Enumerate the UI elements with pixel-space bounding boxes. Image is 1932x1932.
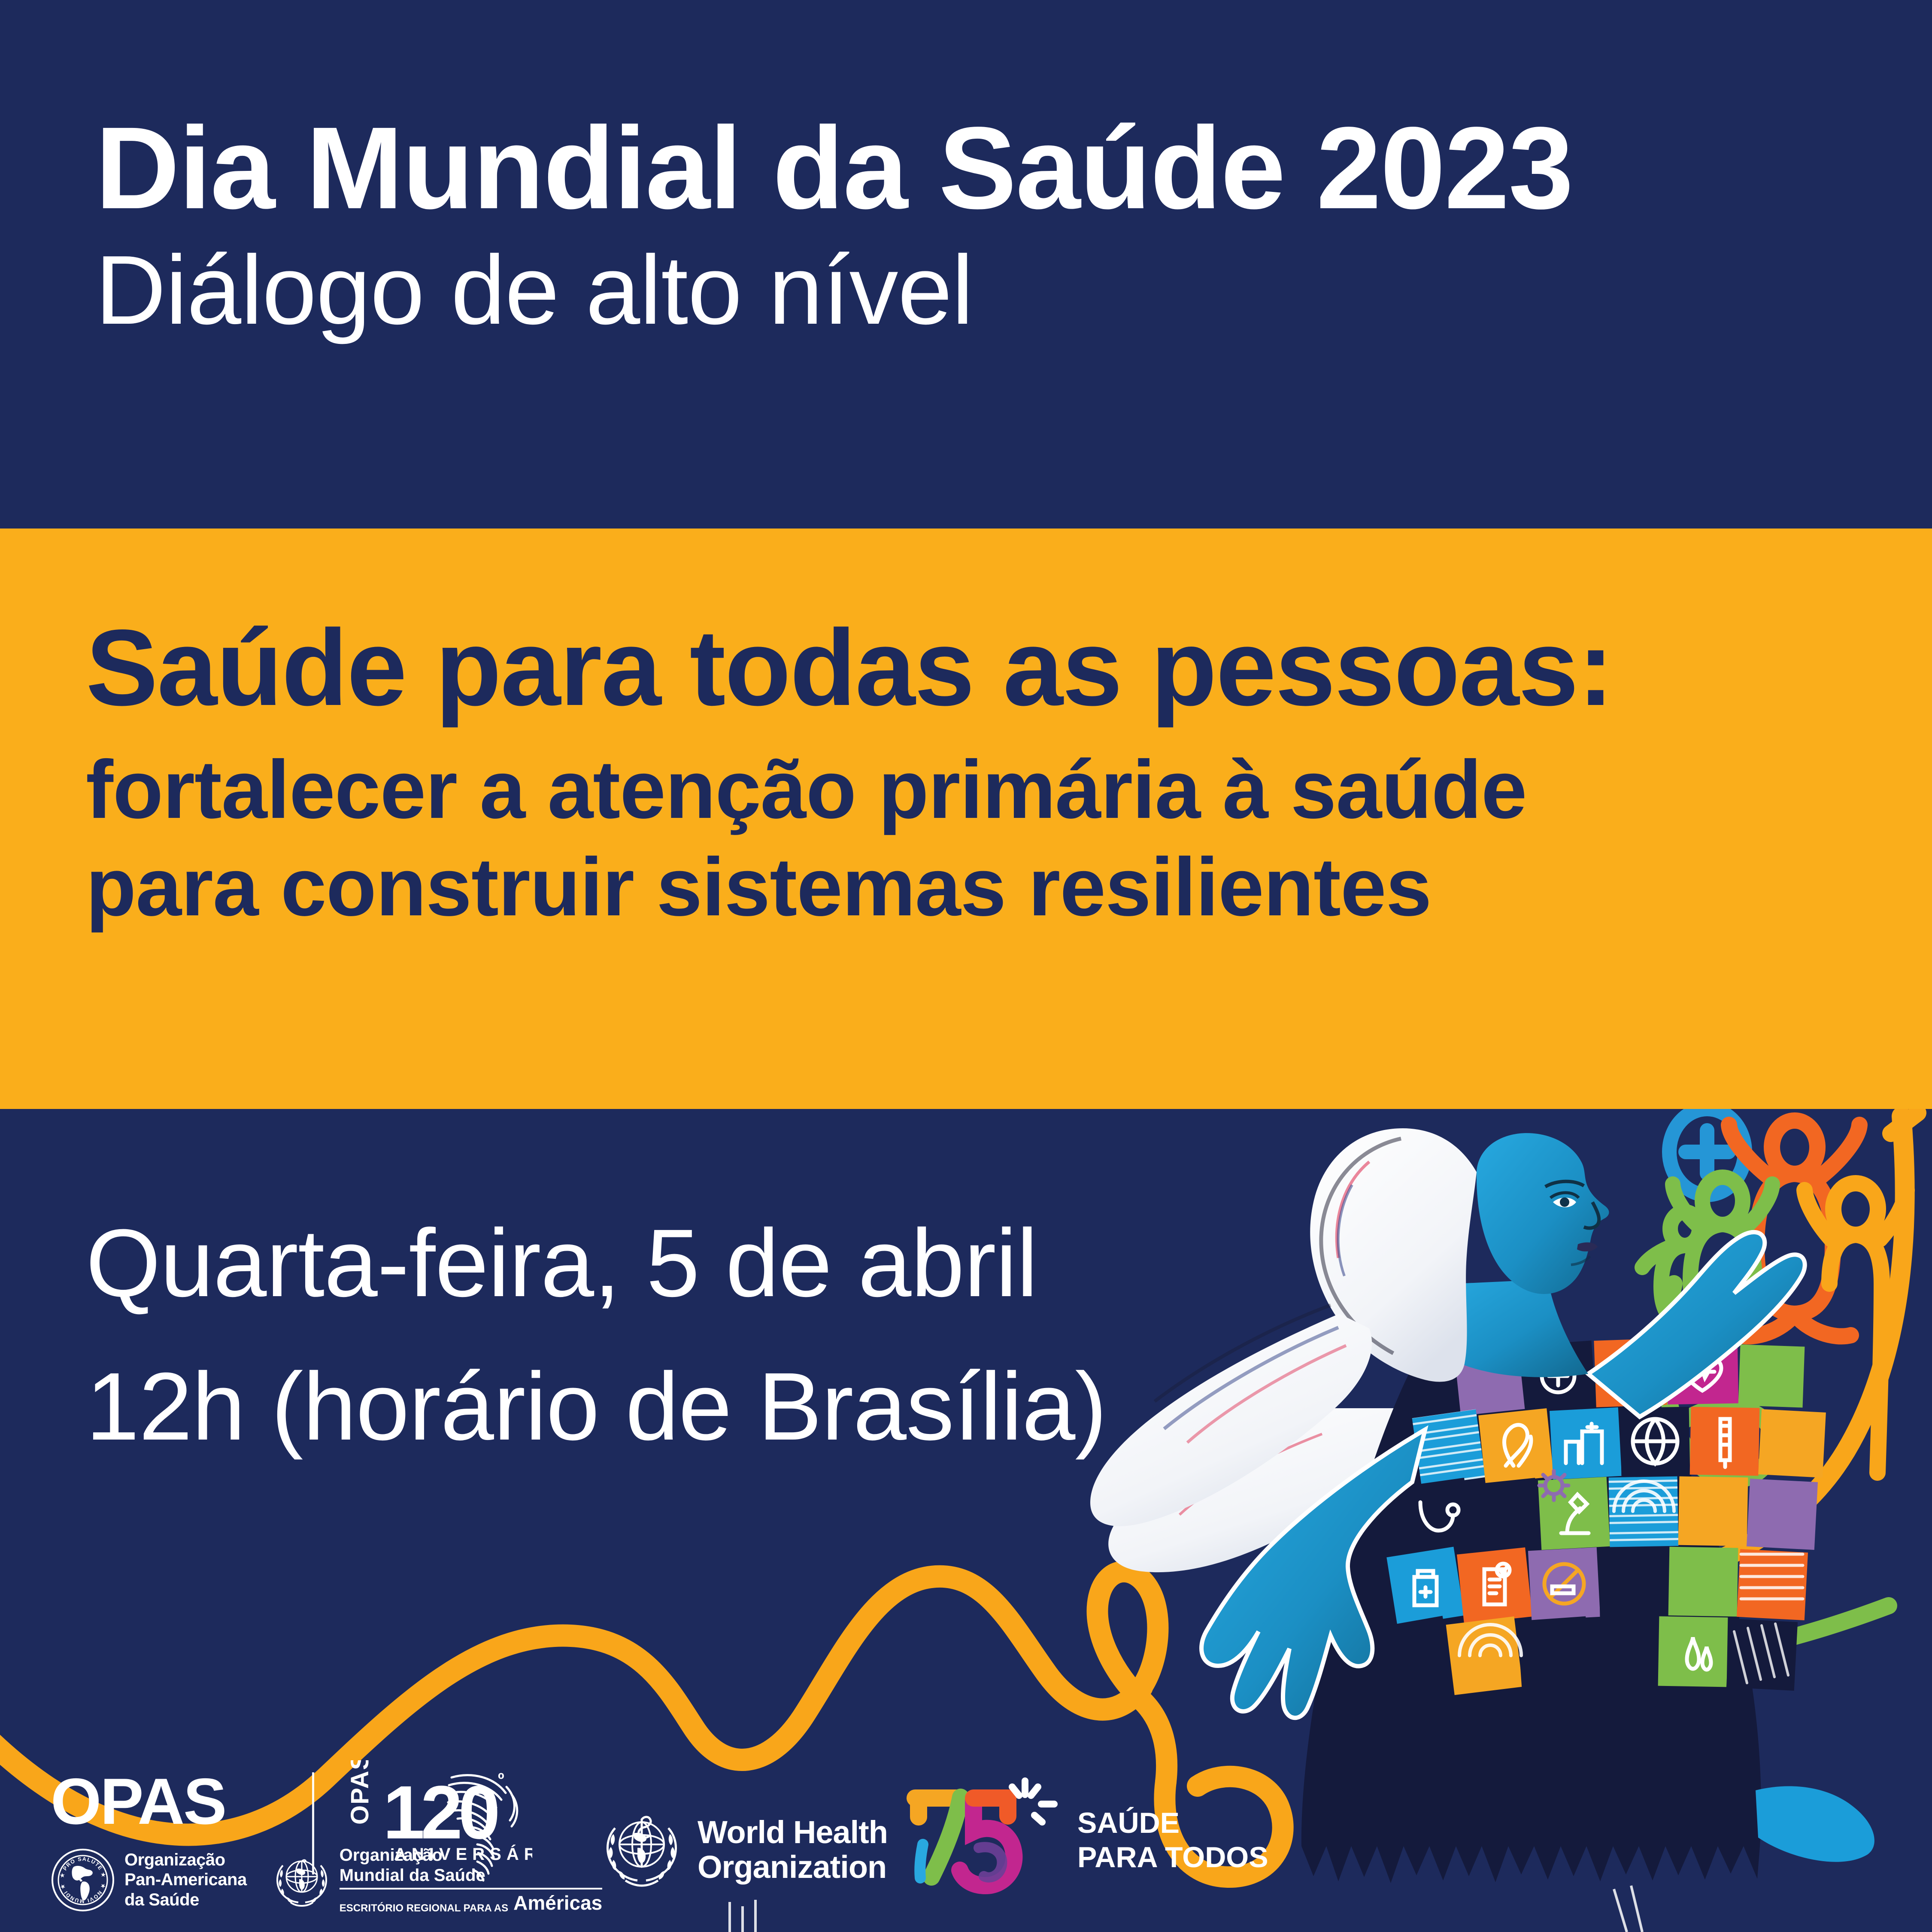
anniv-number: 120: [383, 1771, 497, 1855]
who-75-tagline-line-1: SAÚDE: [1077, 1806, 1268, 1840]
paho-name: Organização Pan-Americana da Saúde: [124, 1850, 247, 1910]
who-name-text: World Health Organization: [698, 1815, 888, 1885]
event-date: Quarta-feira, 5 de abril: [86, 1215, 1374, 1311]
paho-line-2: Pan-Americana: [124, 1870, 247, 1890]
who-emblem-small-icon: [272, 1850, 332, 1910]
event-time: 12h (horário de Brasília): [86, 1358, 1374, 1455]
who-emblem-icon: [599, 1807, 685, 1893]
who-name-line-1: World Health: [698, 1815, 888, 1850]
anniv-caption: ANIVERSÁRIO: [394, 1844, 532, 1864]
opas-120-anniversary-logo: OPAS 120 º: [343, 1760, 532, 1891]
who-75-tagline-line-2: PARA TODOS: [1077, 1840, 1268, 1874]
theme-line-3: para construir sistemas resilientes: [86, 838, 1846, 936]
page-subtitle: Diálogo de alto nível: [95, 239, 1769, 342]
who-75-logo: SAÚDE PARA TODOS: [906, 1776, 1268, 1905]
event-details-block: Quarta-feira, 5 de abril 12h (horário de…: [86, 1215, 1374, 1455]
title-block: Dia Mundial da Saúde 2023 Diálogo de alt…: [95, 109, 1769, 342]
sparkle-icon: [1012, 1781, 1054, 1822]
page-title: Dia Mundial da Saúde 2023: [95, 109, 1769, 226]
who-line-3-small: ESCRITÓRIO REGIONAL PARA AS: [340, 1902, 508, 1914]
paho-line-1: Organização: [124, 1850, 247, 1870]
who-75-tagline: SAÚDE PARA TODOS: [1077, 1806, 1268, 1874]
poster-root: Dia Mundial da Saúde 2023 Diálogo de alt…: [0, 0, 1932, 1932]
who-logo-lockup: World Health Organization: [599, 1807, 888, 1893]
paho-seal-icon: ★ PRO SALUTE ★ ★ NOVI MUNDI ★: [51, 1848, 115, 1912]
anniv-brand-text: OPAS: [346, 1760, 374, 1825]
theme-headline: Saúde para todas as pessoas:: [86, 614, 1846, 722]
paho-line-3: da Saúde: [124, 1890, 247, 1910]
logo-divider: [312, 1772, 314, 1874]
who-line-3-big: Américas: [513, 1892, 602, 1915]
logo-bar: OPAS ★ PRO SALUTE ★ ★ NOVI MUNDI ★: [0, 1752, 1932, 1932]
theme-block: Saúde para todas as pessoas: fortalecer …: [86, 614, 1846, 936]
theme-line-2: fortalecer a atenção primária à saúde: [86, 741, 1846, 838]
who-75-mark-icon: [906, 1776, 1060, 1905]
who-name-line-2: Organization: [698, 1850, 888, 1884]
